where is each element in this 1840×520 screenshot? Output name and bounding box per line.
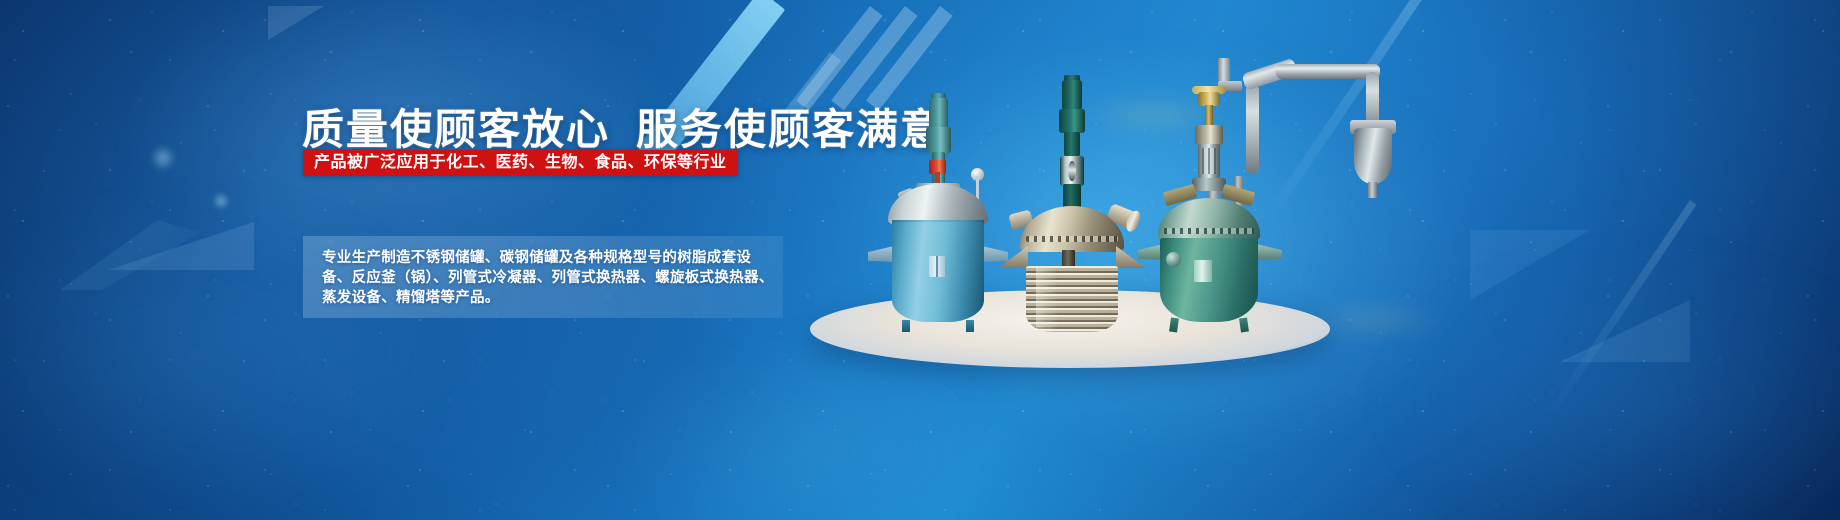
gearbox bbox=[1195, 125, 1223, 145]
sight-glass bbox=[929, 256, 945, 277]
equipment-green-enamel-reactor bbox=[1150, 92, 1268, 330]
headline-phrase-one: 质量使顾客放心 bbox=[302, 106, 610, 153]
horizontal-pipe bbox=[1276, 64, 1380, 79]
jacket-highlight bbox=[1036, 268, 1058, 330]
vessel-dome bbox=[1158, 198, 1260, 242]
product-hero-banner: 质量使顾客放心服务使顾客满意 产品被广泛应用于化工、医药、生物、食品、环保等行业… bbox=[0, 0, 1840, 520]
equipment-steel-coil-reactor bbox=[1012, 80, 1132, 332]
support-lug-right bbox=[982, 246, 1008, 262]
agitator-motor bbox=[1062, 80, 1082, 110]
equipment-blue-jacketed-reactor bbox=[882, 98, 994, 330]
banner-copy-column: 质量使顾客放心服务使顾客满意 产品被广泛应用于化工、医药、生物、食品、环保等行业… bbox=[0, 0, 860, 520]
pipe-flange-upper bbox=[1218, 58, 1230, 81]
gearbox bbox=[1059, 109, 1085, 133]
sight-glass bbox=[1194, 260, 1212, 282]
flange-bolt-ring bbox=[1164, 228, 1254, 234]
lantern-ring bbox=[1198, 144, 1220, 178]
shaft-coupler bbox=[1060, 156, 1084, 186]
decorative-triangle-right-lower bbox=[1560, 300, 1690, 362]
shaft-collar bbox=[1192, 178, 1226, 191]
top-valve bbox=[1198, 92, 1220, 106]
vessel-foot-right bbox=[966, 320, 974, 332]
valve-stem bbox=[1205, 105, 1213, 127]
tagline-badge: 产品被广泛应用于化工、医药、生物、食品、环保等行业 bbox=[303, 150, 738, 176]
condenser-drain bbox=[1368, 182, 1377, 198]
side-knob bbox=[1166, 252, 1181, 267]
gearbox bbox=[926, 127, 951, 153]
support-lug-left bbox=[868, 246, 894, 262]
light-ray-right-two bbox=[1545, 200, 1697, 420]
vessel-foot-left bbox=[902, 320, 910, 332]
description-text: 专业生产制造不锈钢储罐、碳钢储罐及各种规格型号的树脂成套设备、反应釜（锅）、列管… bbox=[322, 248, 774, 308]
condenser-shell bbox=[1354, 128, 1392, 184]
background-glow-right bbox=[1380, 250, 1840, 520]
drive-neck bbox=[1064, 132, 1080, 156]
banner-headline: 质量使顾客放心服务使顾客满意 bbox=[302, 96, 944, 157]
agitator-motor bbox=[929, 98, 948, 128]
flange-bolt-ring bbox=[1026, 236, 1118, 242]
vessel-leg-right bbox=[1239, 318, 1249, 333]
decorative-triangle-right-upper bbox=[1470, 230, 1590, 300]
tagline-text: 产品被广泛应用于化工、医药、生物、食品、环保等行业 bbox=[314, 155, 727, 171]
